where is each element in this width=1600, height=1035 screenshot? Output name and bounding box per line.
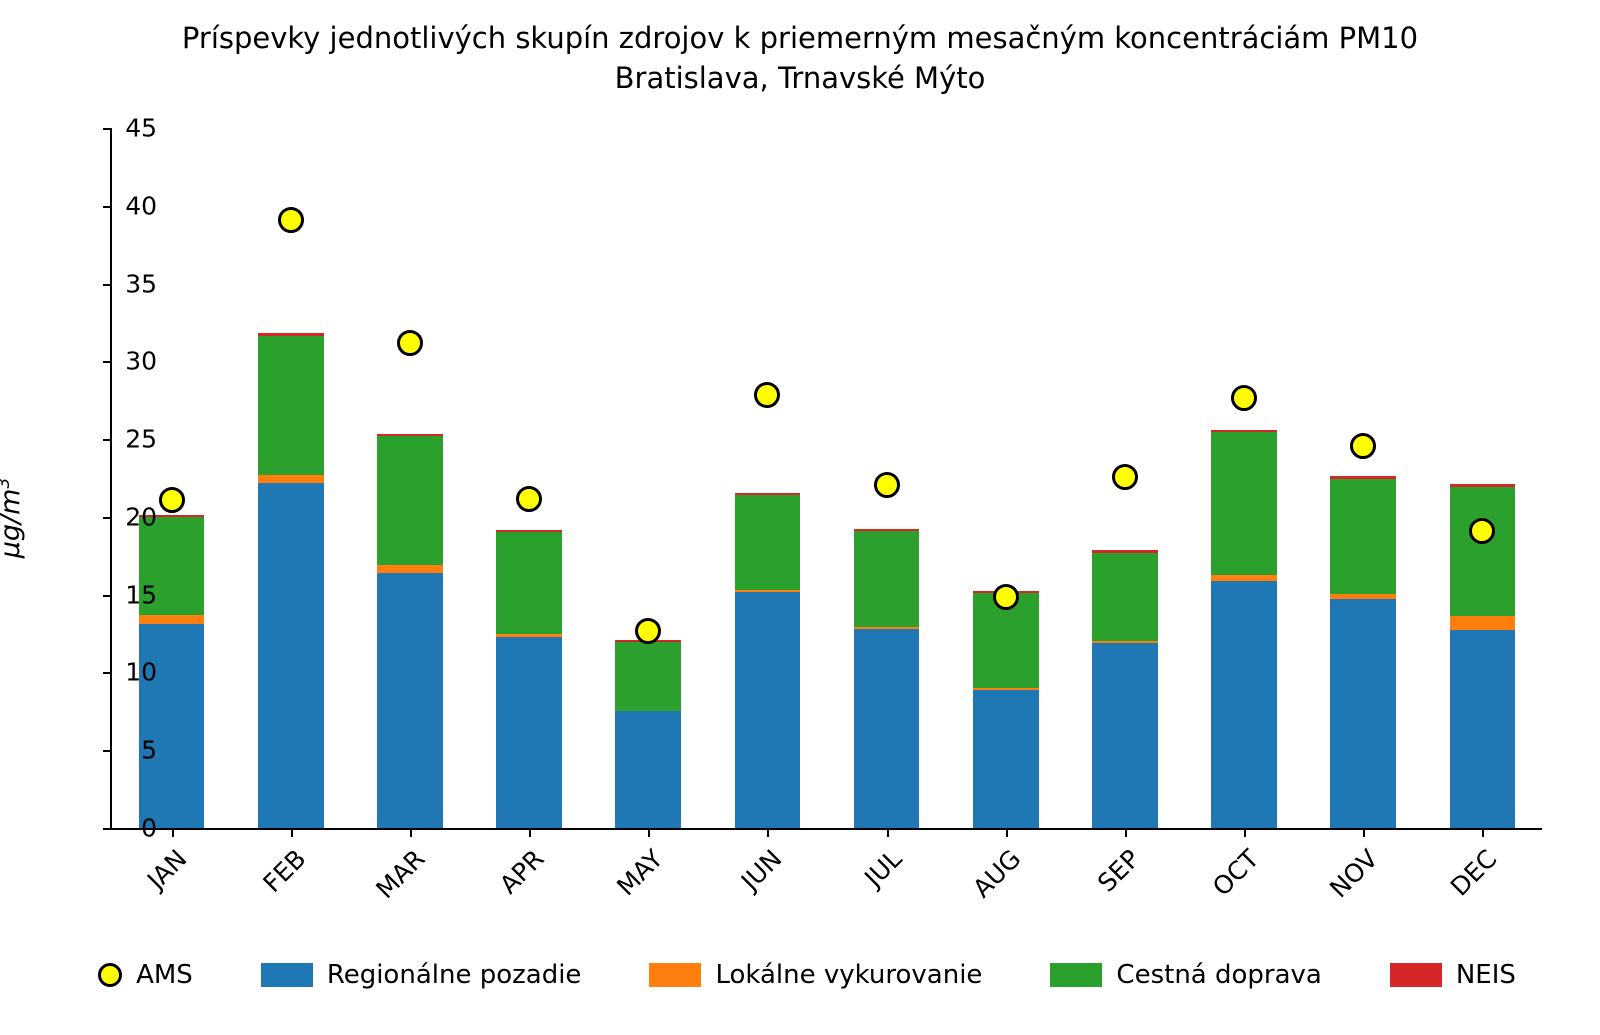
bar-segment[interactable] bbox=[377, 565, 443, 573]
bar-stack[interactable] bbox=[1092, 550, 1158, 828]
bar-segment[interactable] bbox=[496, 530, 562, 532]
bar-stack[interactable] bbox=[1330, 476, 1396, 828]
ams-marker[interactable] bbox=[993, 584, 1019, 610]
ams-marker[interactable] bbox=[159, 487, 185, 513]
plot-inner bbox=[112, 128, 1542, 828]
bar-stack[interactable] bbox=[973, 591, 1039, 828]
y-axis-tick-label: 35 bbox=[37, 269, 157, 298]
bar-segment[interactable] bbox=[854, 529, 920, 531]
chart-legend: AMSRegionálne pozadieLokálne vykurovanie… bbox=[0, 945, 1600, 1005]
bar-segment[interactable] bbox=[377, 434, 443, 436]
bar-segment[interactable] bbox=[258, 475, 324, 483]
legend-item[interactable]: Regionálne pozadie bbox=[261, 960, 582, 990]
x-axis-tick-mark bbox=[529, 828, 531, 837]
bar-segment[interactable] bbox=[854, 627, 920, 629]
legend-label: AMS bbox=[136, 960, 193, 990]
legend-item[interactable]: AMS bbox=[84, 960, 193, 990]
bar-stack[interactable] bbox=[258, 333, 324, 828]
legend-label: Regionálne pozadie bbox=[327, 960, 582, 990]
bar-segment[interactable] bbox=[258, 483, 324, 828]
bar-segment[interactable] bbox=[1330, 479, 1396, 594]
x-axis-tick-label: JAN bbox=[126, 844, 192, 910]
bar-segment[interactable] bbox=[496, 637, 562, 828]
bar-segment[interactable] bbox=[735, 493, 801, 495]
bar-segment[interactable] bbox=[854, 629, 920, 828]
y-axis-label: μg/m3 bbox=[0, 477, 26, 558]
bar-segment[interactable] bbox=[377, 436, 443, 565]
bar-segment[interactable] bbox=[1211, 430, 1277, 432]
ams-marker[interactable] bbox=[516, 486, 542, 512]
y-axis-tick-label: 25 bbox=[37, 425, 157, 454]
bar-segment[interactable] bbox=[1450, 630, 1516, 828]
x-axis-tick-mark bbox=[1363, 828, 1365, 837]
bar-segment[interactable] bbox=[735, 590, 801, 592]
chart-figure: Príspevky jednotlivých skupín zdrojov k … bbox=[0, 0, 1600, 1035]
ams-marker[interactable] bbox=[1112, 464, 1138, 490]
bar-segment[interactable] bbox=[1450, 484, 1516, 487]
y-axis-tick-label: 30 bbox=[37, 347, 157, 376]
x-axis-tick-label: MAR bbox=[365, 844, 431, 910]
y-axis-tick-label: 45 bbox=[37, 114, 157, 143]
x-axis-tick-label: NOV bbox=[1318, 844, 1384, 910]
legend-swatch bbox=[1050, 963, 1102, 987]
bar-stack[interactable] bbox=[854, 529, 920, 828]
ams-marker[interactable] bbox=[1231, 385, 1257, 411]
bar-segment[interactable] bbox=[1330, 594, 1396, 599]
x-axis-tick-mark bbox=[410, 828, 412, 837]
bar-segment[interactable] bbox=[1450, 616, 1516, 630]
y-axis-tick-label: 0 bbox=[37, 814, 157, 843]
bar-segment[interactable] bbox=[1211, 575, 1277, 580]
bar-stack[interactable] bbox=[1211, 430, 1277, 828]
x-axis-tick-mark bbox=[1006, 828, 1008, 837]
bar-stack[interactable] bbox=[615, 640, 681, 828]
legend-label: Cestná doprava bbox=[1116, 960, 1321, 990]
x-axis-tick-mark bbox=[767, 828, 769, 837]
legend-marker-icon bbox=[98, 963, 122, 987]
x-axis-tick-label: DEC bbox=[1437, 844, 1503, 910]
ams-marker[interactable] bbox=[635, 618, 661, 644]
bar-segment[interactable] bbox=[1211, 581, 1277, 828]
legend-label: NEIS bbox=[1456, 960, 1516, 990]
ams-marker[interactable] bbox=[397, 330, 423, 356]
y-axis-tick-label: 10 bbox=[37, 658, 157, 687]
bar-segment[interactable] bbox=[615, 711, 681, 828]
legend-label: Lokálne vykurovanie bbox=[715, 960, 982, 990]
ams-marker[interactable] bbox=[754, 382, 780, 408]
x-axis-tick-label: APR bbox=[484, 844, 550, 910]
legend-swatch bbox=[1390, 963, 1442, 987]
bar-segment[interactable] bbox=[1092, 643, 1158, 828]
x-axis-tick-label: SEP bbox=[1080, 844, 1146, 910]
bar-segment[interactable] bbox=[973, 688, 1039, 690]
y-axis-label-text: μg/m bbox=[0, 488, 26, 558]
ams-marker[interactable] bbox=[874, 472, 900, 498]
x-axis-tick-label: MAY bbox=[603, 844, 669, 910]
y-axis-label-exponent: 3 bbox=[0, 477, 14, 488]
y-axis-tick-label: 40 bbox=[37, 191, 157, 220]
bar-stack[interactable] bbox=[377, 434, 443, 828]
x-axis-tick-label: JUL bbox=[841, 844, 907, 910]
bar-segment[interactable] bbox=[139, 615, 205, 624]
bar-segment[interactable] bbox=[1092, 553, 1158, 642]
x-axis-tick-label: JUN bbox=[722, 844, 788, 910]
bar-stack[interactable] bbox=[735, 493, 801, 828]
bar-stack[interactable] bbox=[496, 530, 562, 828]
bar-segment[interactable] bbox=[735, 592, 801, 828]
bar-segment[interactable] bbox=[496, 634, 562, 637]
bar-segment[interactable] bbox=[1092, 641, 1158, 643]
x-axis-tick-label: FEB bbox=[245, 844, 311, 910]
bar-segment[interactable] bbox=[139, 624, 205, 828]
bar-segment[interactable] bbox=[1092, 550, 1158, 552]
bar-segment[interactable] bbox=[973, 690, 1039, 828]
chart-title: Príspevky jednotlivých skupín zdrojov k … bbox=[0, 18, 1600, 98]
plot-area: JANFEBMARAPRMAYJUNJULAUGSEPOCTNOVDEC bbox=[110, 128, 1542, 830]
y-axis-tick-label: 20 bbox=[37, 502, 157, 531]
x-axis-tick-mark bbox=[648, 828, 650, 837]
bar-segment[interactable] bbox=[258, 336, 324, 474]
x-axis-tick-mark bbox=[291, 828, 293, 837]
bar-segment[interactable] bbox=[1450, 487, 1516, 616]
legend-item[interactable]: Cestná doprava bbox=[1050, 960, 1321, 990]
ams-marker[interactable] bbox=[1469, 518, 1495, 544]
legend-swatch bbox=[649, 963, 701, 987]
legend-swatch bbox=[261, 963, 313, 987]
x-axis-tick-mark bbox=[172, 828, 174, 837]
bar-segment[interactable] bbox=[615, 642, 681, 710]
bar-segment[interactable] bbox=[1330, 476, 1396, 478]
ams-marker[interactable] bbox=[278, 207, 304, 233]
x-axis-tick-label: AUG bbox=[960, 844, 1026, 910]
legend-item[interactable]: Lokálne vykurovanie bbox=[649, 960, 982, 990]
x-axis-tick-mark bbox=[1125, 828, 1127, 837]
ams-marker[interactable] bbox=[1350, 433, 1376, 459]
bar-segment[interactable] bbox=[496, 532, 562, 633]
x-axis-tick-mark bbox=[1482, 828, 1484, 837]
bar-segment[interactable] bbox=[1211, 432, 1277, 575]
bar-segment[interactable] bbox=[258, 333, 324, 336]
x-axis-tick-label: OCT bbox=[1199, 844, 1265, 910]
y-axis-tick-label: 5 bbox=[37, 736, 157, 765]
bar-segment[interactable] bbox=[1330, 599, 1396, 828]
bar-segment[interactable] bbox=[854, 531, 920, 627]
x-axis-tick-mark bbox=[1244, 828, 1246, 837]
x-axis-tick-mark bbox=[887, 828, 889, 837]
y-axis-tick-label: 15 bbox=[37, 580, 157, 609]
bar-segment[interactable] bbox=[735, 495, 801, 590]
legend-item[interactable]: NEIS bbox=[1390, 960, 1516, 990]
bar-segment[interactable] bbox=[377, 573, 443, 828]
